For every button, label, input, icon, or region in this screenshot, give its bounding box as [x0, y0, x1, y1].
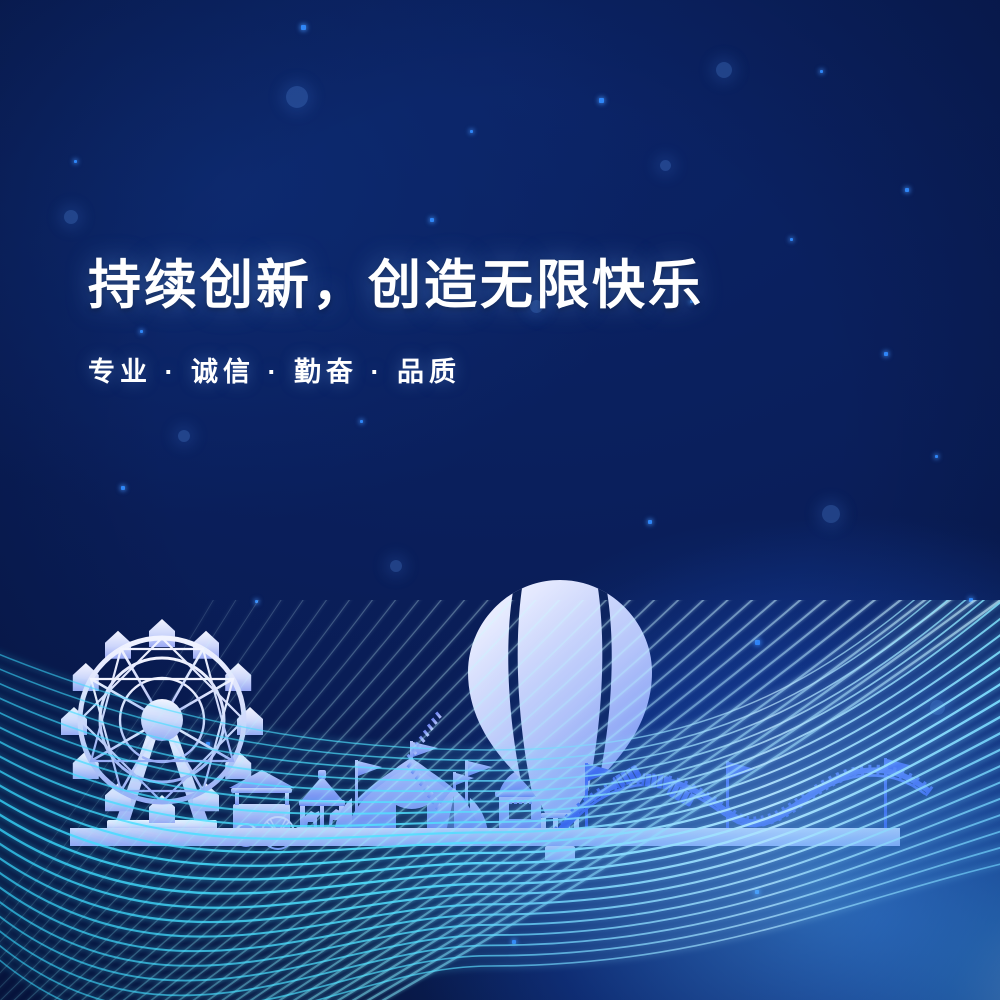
- star-particle: [935, 455, 938, 458]
- star-particle: [470, 130, 473, 133]
- star-particle: [360, 420, 363, 423]
- star-glow: [660, 160, 671, 171]
- star-glow: [64, 210, 78, 224]
- wave-fan-line: [0, 600, 449, 1000]
- wave-fan-line: [0, 600, 524, 1000]
- neon-wave-mesh: [0, 600, 1000, 1000]
- wave-fan-line: [0, 600, 300, 1000]
- star-glow: [286, 86, 308, 108]
- star-particle: [790, 238, 793, 241]
- star-particle: [905, 188, 909, 192]
- wave-fan-line: [0, 600, 375, 1000]
- star-particle: [884, 352, 888, 356]
- star-particle: [301, 25, 306, 30]
- star-particle: [74, 160, 77, 163]
- hero-copy: 持续创新，创造无限快乐 专业 · 诚信 · 勤奋 · 品质: [88, 258, 704, 389]
- star-particle: [599, 98, 604, 103]
- page-subtitle: 专业 · 诚信 · 勤奋 · 品质: [88, 350, 704, 389]
- hero-banner: 持续创新，创造无限快乐 专业 · 诚信 · 勤奋 · 品质: [0, 0, 1000, 1000]
- star-particle: [820, 70, 823, 73]
- page-title: 持续创新，创造无限快乐: [88, 258, 704, 314]
- star-particle: [430, 218, 434, 222]
- star-glow: [178, 430, 190, 442]
- wave-core-glow: [560, 650, 1000, 1000]
- star-glow: [716, 62, 732, 78]
- star-particle: [121, 486, 125, 490]
